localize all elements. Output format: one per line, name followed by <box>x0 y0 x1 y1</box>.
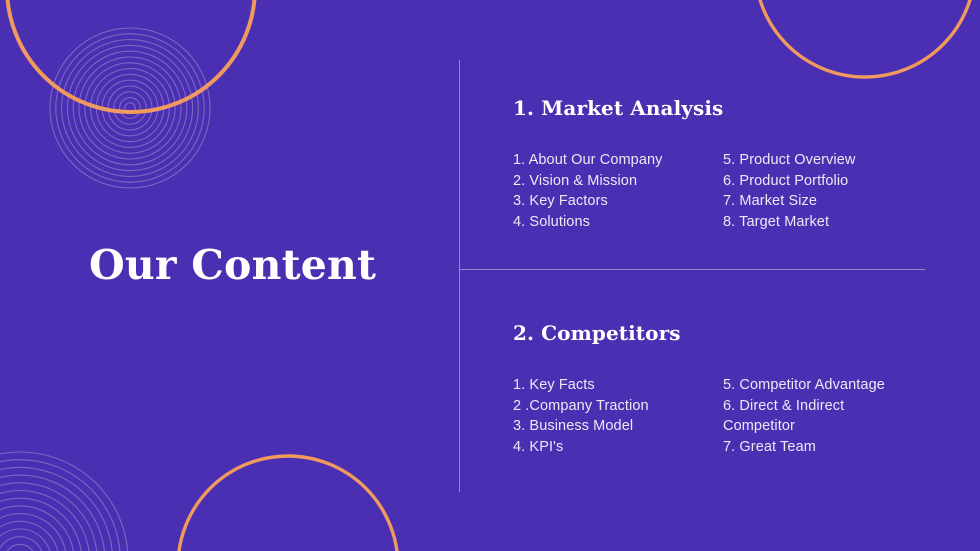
list-item[interactable]: 5. Product Overview <box>723 150 953 171</box>
list-item[interactable]: 7. Market Size <box>723 191 953 212</box>
list-item[interactable]: 5. Competitor Advantage <box>723 375 953 396</box>
orange-circle-bottom-center-icon <box>178 456 398 551</box>
list-item[interactable]: 7. Great Team <box>723 437 953 458</box>
concentric-rings-top-left-icon <box>50 28 210 188</box>
section-heading-market-analysis: 1. Market Analysis <box>513 96 953 120</box>
concentric-rings-bottom-left-icon <box>0 452 128 551</box>
vertical-divider <box>459 60 460 492</box>
list-item[interactable]: 1. About Our Company <box>513 150 723 171</box>
list-item-continuation[interactable]: Competitor <box>723 416 953 437</box>
page-title: Our Content <box>89 243 376 288</box>
content-section-competitors: 2. Competitors 1. Key Facts 2 .Company T… <box>513 321 953 457</box>
list-item[interactable]: 6. Product Portfolio <box>723 171 953 192</box>
item-column-right: 5. Competitor Advantage 6. Direct & Indi… <box>723 375 953 457</box>
list-item[interactable]: 1. Key Facts <box>513 375 723 396</box>
list-item[interactable]: 3. Business Model <box>513 416 723 437</box>
orange-circle-top-right-icon <box>755 0 975 77</box>
item-column-right: 5. Product Overview 6. Product Portfolio… <box>723 150 953 232</box>
section-item-columns: 1. Key Facts 2 .Company Traction 3. Busi… <box>513 375 953 457</box>
list-item[interactable]: 3. Key Factors <box>513 191 723 212</box>
list-item[interactable]: 4. KPI's <box>513 437 723 458</box>
section-heading-competitors: 2. Competitors <box>513 321 953 345</box>
list-item[interactable]: 2. Vision & Mission <box>513 171 723 192</box>
horizontal-divider <box>459 269 925 270</box>
section-item-columns: 1. About Our Company 2. Vision & Mission… <box>513 150 953 232</box>
content-section-market-analysis: 1. Market Analysis 1. About Our Company … <box>513 96 953 232</box>
item-column-left: 1. About Our Company 2. Vision & Mission… <box>513 150 723 232</box>
list-item[interactable]: 8. Target Market <box>723 212 953 233</box>
orange-arc-top-left-icon <box>7 0 255 112</box>
list-item[interactable]: 2 .Company Traction <box>513 396 723 417</box>
list-item[interactable]: 4. Solutions <box>513 212 723 233</box>
presentation-slide: Our Content 1. Market Analysis 1. About … <box>0 0 980 551</box>
item-column-left: 1. Key Facts 2 .Company Traction 3. Busi… <box>513 375 723 457</box>
list-item[interactable]: 6. Direct & Indirect <box>723 396 953 417</box>
